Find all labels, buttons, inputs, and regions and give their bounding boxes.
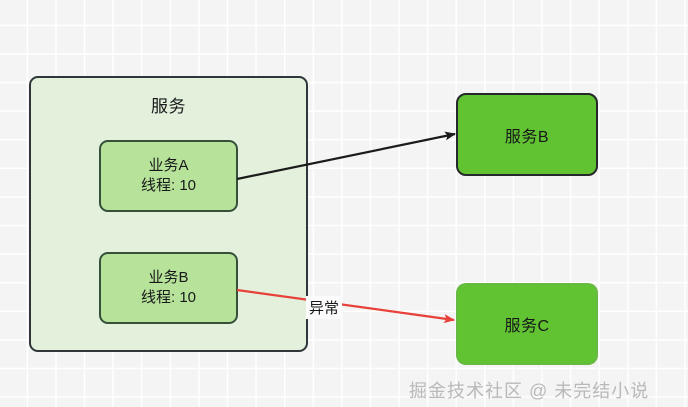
inner-box-business-a[interactable]: 业务A 线程: 10 (99, 140, 238, 212)
diagram-canvas: 服务 业务A 线程: 10 业务B 线程: 10 服务B 服务C 异常 掘金技术… (0, 0, 688, 407)
inner-box-business-b-threads: 线程: 10 (141, 288, 196, 308)
inner-box-business-b-name: 业务B (148, 268, 188, 288)
connector-label-exception: 异常 (306, 296, 342, 319)
watermark: 掘金技术社区 @ 未完结小说 (409, 377, 649, 403)
service-box-c[interactable]: 服务C (456, 283, 598, 365)
inner-box-business-b[interactable]: 业务B 线程: 10 (99, 252, 238, 324)
service-box-c-label: 服务C (504, 312, 549, 336)
service-box-b[interactable]: 服务B (456, 93, 598, 176)
outer-service-title: 服务 (31, 92, 306, 117)
inner-box-business-a-threads: 线程: 10 (141, 176, 196, 196)
inner-box-business-a-name: 业务A (148, 156, 188, 176)
service-box-b-label: 服务B (505, 123, 549, 147)
